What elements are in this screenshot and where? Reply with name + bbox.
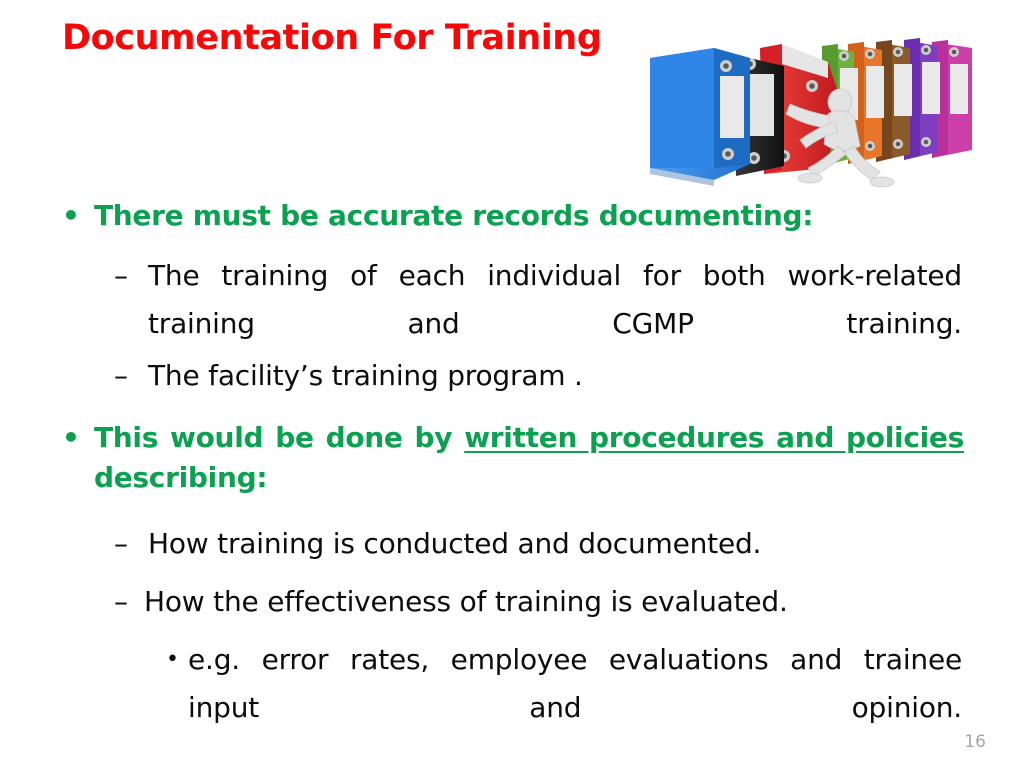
list-item: – How training is conducted and document…	[0, 520, 1024, 568]
bullet-text-underlined: written procedures and policies	[464, 421, 964, 454]
bullet-text: The facility’s training program .	[148, 359, 583, 392]
dash-marker-icon: –	[114, 352, 128, 400]
bullet-text-plain-tail: describing:	[94, 461, 267, 494]
bullet-text: How the effectiveness of training is eva…	[144, 585, 788, 618]
bullet-marker-icon: •	[62, 418, 80, 458]
bullet-text: e.g. error rates, employee evaluations a…	[188, 643, 962, 724]
list-item: – The facility’s training program .	[0, 352, 1024, 400]
ring-binders-image	[632, 18, 988, 190]
list-item: – How the effectiveness of training is e…	[0, 578, 1024, 626]
dash-marker-icon: –	[114, 252, 128, 300]
list-item: • e.g. error rates, employee evaluations…	[0, 636, 1024, 768]
bullet-text: The training of each individual for both…	[148, 259, 962, 340]
bullet-text: There must be accurate records documenti…	[94, 199, 813, 232]
list-item: • There must be accurate records documen…	[0, 196, 1024, 236]
slide: Documentation For Training	[0, 0, 1024, 768]
page-title: Documentation For Training	[62, 16, 622, 60]
dash-marker-icon: –	[114, 578, 128, 626]
dash-marker-icon: –	[114, 520, 128, 568]
slide-number: 16	[964, 732, 986, 752]
bullet-text-plain-lead: This would be done by	[94, 421, 464, 454]
bullet-text: How training is conducted and documented…	[148, 527, 761, 560]
bullet-marker-icon: •	[166, 636, 179, 684]
bullet-marker-icon: •	[62, 196, 80, 236]
